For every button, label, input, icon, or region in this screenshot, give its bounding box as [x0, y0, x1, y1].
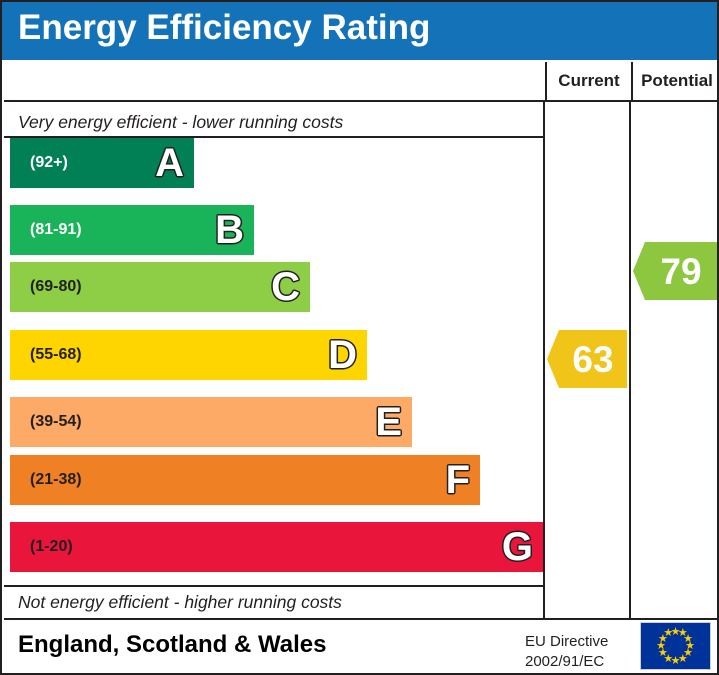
band-letter-g: G [502, 527, 533, 567]
rating-band-b: (81-91)B [10, 205, 254, 255]
eu-flag-icon: ★★★★★★★★★★★★ [640, 622, 711, 670]
epc-energy-efficiency-chart: Energy Efficiency Rating Current Potenti… [0, 0, 719, 675]
page-title: Energy Efficiency Rating [18, 8, 430, 48]
band-range-a: (92+) [30, 154, 68, 172]
column-divider-potential [629, 102, 631, 620]
band-letter-f: F [446, 460, 470, 500]
potential-rating-marker: 79 [633, 242, 717, 300]
band-range-e: (39-54) [30, 413, 82, 431]
rating-band-d: (55-68)D [10, 330, 367, 380]
footer-directive-line1: EU Directive [525, 632, 608, 652]
rating-band-a: (92+)A [10, 138, 194, 188]
band-range-c: (69-80) [30, 278, 82, 296]
potential-rating-value: 79 [648, 253, 701, 290]
current-rating-value: 63 [560, 341, 613, 378]
band-letter-d: D [328, 335, 357, 375]
footer: England, Scotland & Wales EU Directive 2… [2, 620, 717, 675]
band-range-b: (81-91) [30, 221, 82, 239]
footer-region-label: England, Scotland & Wales [18, 631, 326, 659]
band-range-g: (1-20) [30, 538, 73, 556]
chart-title-bar: Energy Efficiency Rating [2, 2, 719, 60]
current-rating-marker: 63 [547, 330, 627, 388]
footer-directive: EU Directive 2002/91/EC [525, 632, 608, 673]
band-letter-e: E [375, 402, 402, 442]
footer-directive-line2: 2002/91/EC [525, 652, 608, 672]
column-header-current: Current [545, 62, 631, 100]
rating-band-e: (39-54)E [10, 397, 412, 447]
rating-band-g: (1-20)G [10, 522, 543, 572]
caption-not-efficient: Not energy efficient - higher running co… [18, 592, 342, 613]
column-divider-current [543, 102, 545, 620]
band-letter-c: C [271, 267, 300, 307]
column-header-row: Current Potential [4, 62, 719, 102]
caption-bottom-divider [4, 585, 543, 587]
eu-flag-star: ★ [663, 628, 674, 639]
band-letter-a: A [155, 143, 184, 183]
band-letter-b: B [215, 210, 244, 250]
rating-band-f: (21-38)F [10, 455, 480, 505]
caption-very-efficient: Very energy efficient - lower running co… [18, 112, 343, 133]
column-header-potential: Potential [631, 62, 719, 100]
band-range-f: (21-38) [30, 471, 82, 489]
rating-band-c: (69-80)C [10, 262, 310, 312]
rating-band-list: (92+)A(81-91)B(69-80)C(55-68)D(39-54)E(2… [10, 138, 543, 584]
band-range-d: (55-68) [30, 346, 82, 364]
